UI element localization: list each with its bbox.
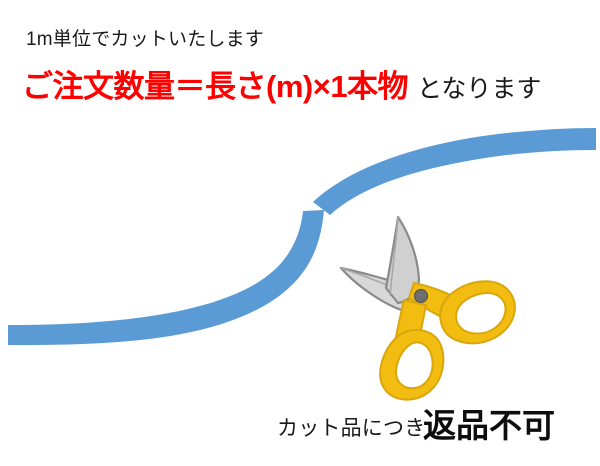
scissors-lower-handle-loop [380,330,443,400]
cut-notice-canvas: 1m単位でカットいたします ご注文数量＝長さ(m)×1本物となります カット品に… [0,0,600,466]
scissors-pivot-rivet [415,290,428,303]
no-return-lead-text: カット品につき [277,418,425,439]
no-return-emphasis-text: 返品不可 [423,409,555,442]
order-formula-tail-text: となります [408,75,541,103]
unit-notice-text: 1m単位でカットいたします [26,30,264,49]
order-formula-red-text: ご注文数量＝長さ(m)×1本物 [22,69,408,104]
blue-cable-left-segment [8,210,324,345]
scissors-upper-handle-loop [440,281,515,343]
blue-cable-right-segment [313,128,596,215]
order-formula-line: ご注文数量＝長さ(m)×1本物となります [22,71,541,102]
scissors-graphic [341,217,515,400]
